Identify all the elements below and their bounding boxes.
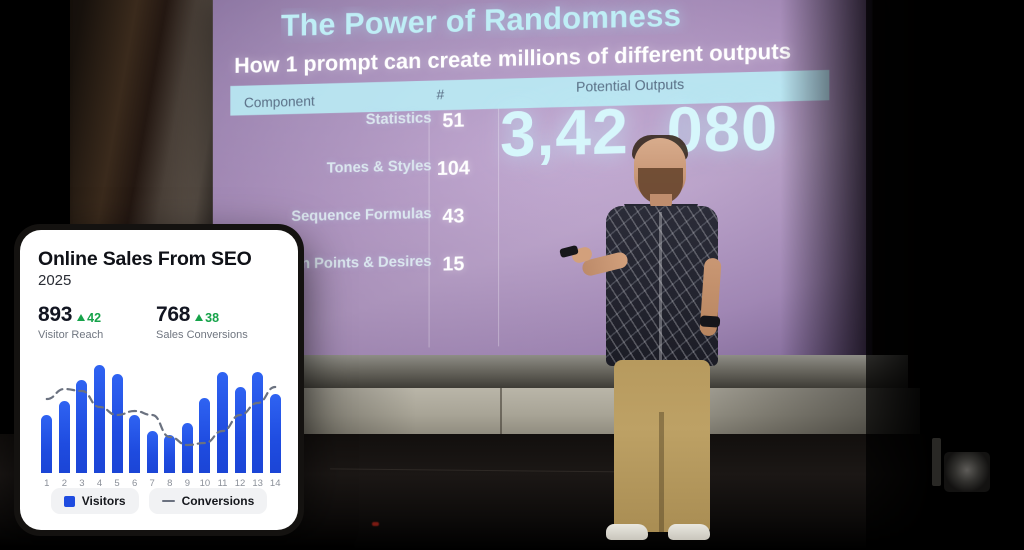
speaker-wristwatch bbox=[700, 315, 721, 327]
legend-label-conversions: Conversions bbox=[182, 494, 255, 508]
conversions-trend-line bbox=[38, 355, 284, 473]
panel-shading bbox=[200, 388, 920, 436]
kpi-sales-conversions-delta-value: 38 bbox=[205, 311, 219, 325]
screenshot-root: The Power of Randomness How 1 prompt can… bbox=[0, 0, 1024, 550]
slide-cell-component: Sequence Formulas bbox=[240, 206, 432, 226]
speaker-figure bbox=[576, 138, 748, 550]
slide-cell-component: Tones & Styles bbox=[240, 158, 432, 178]
kpi-visitor-reach: 893 42 Visitor Reach bbox=[38, 303, 156, 341]
slide-cell-count: 104 bbox=[427, 157, 481, 181]
kpi-sales-conversions-top: 768 38 bbox=[156, 303, 280, 327]
stage-riser bbox=[208, 355, 908, 389]
triangle-up-icon bbox=[195, 314, 203, 321]
legend-item-visitors[interactable]: Visitors bbox=[51, 488, 139, 514]
analytics-card-bezel: Online Sales From SEO 2025 893 42 Visito… bbox=[14, 224, 304, 536]
kpi-visitor-reach-value: 893 bbox=[38, 303, 72, 327]
slide-col-component: Component bbox=[244, 93, 315, 111]
light-stand bbox=[932, 438, 941, 486]
kpi-visitor-reach-delta: 42 bbox=[77, 311, 101, 325]
card-title: Online Sales From SEO bbox=[38, 248, 280, 271]
kpi-visitor-reach-delta-value: 42 bbox=[87, 311, 101, 325]
kpi-sales-conversions-label: Sales Conversions bbox=[156, 329, 280, 341]
card-year: 2025 bbox=[38, 272, 280, 289]
conversions-dash-icon bbox=[162, 500, 175, 503]
legend-label-visitors: Visitors bbox=[82, 494, 126, 508]
slide-cell-count: 43 bbox=[427, 205, 481, 229]
kpi-sales-conversions-delta: 38 bbox=[195, 311, 219, 325]
kpi-visitor-reach-label: Visitor Reach bbox=[38, 329, 156, 341]
projection-screen: The Power of Randomness How 1 prompt can… bbox=[213, 0, 873, 372]
screen-edge-shadow bbox=[780, 0, 872, 372]
slide-cell-count: 15 bbox=[427, 253, 481, 277]
slide-col-count: # bbox=[437, 86, 445, 102]
speaker-pants bbox=[614, 360, 710, 532]
slide-cell-count: 51 bbox=[427, 109, 481, 133]
speaker-shirt bbox=[606, 206, 718, 366]
triangle-up-icon bbox=[77, 314, 85, 321]
slide-subtitle-prefix: How bbox=[234, 52, 285, 78]
sales-chart bbox=[38, 355, 280, 473]
analytics-card: Online Sales From SEO 2025 893 42 Visito… bbox=[20, 230, 298, 530]
floor-marker bbox=[372, 522, 379, 526]
speaker-shoe-right bbox=[668, 524, 710, 540]
speaker-shoe-left bbox=[606, 524, 648, 540]
chart-legend: Visitors Conversions bbox=[20, 488, 298, 514]
stage-light-fixture bbox=[944, 452, 990, 492]
kpi-sales-conversions: 768 38 Sales Conversions bbox=[156, 303, 280, 341]
kpi-row: 893 42 Visitor Reach 768 38 Sales Co bbox=[38, 303, 280, 341]
legend-item-conversions[interactable]: Conversions bbox=[149, 488, 268, 514]
visitors-swatch-icon bbox=[64, 496, 75, 507]
kpi-visitor-reach-top: 893 42 bbox=[38, 303, 156, 327]
slide-subtitle-number: 1 bbox=[286, 51, 298, 76]
kpi-sales-conversions-value: 768 bbox=[156, 303, 190, 327]
